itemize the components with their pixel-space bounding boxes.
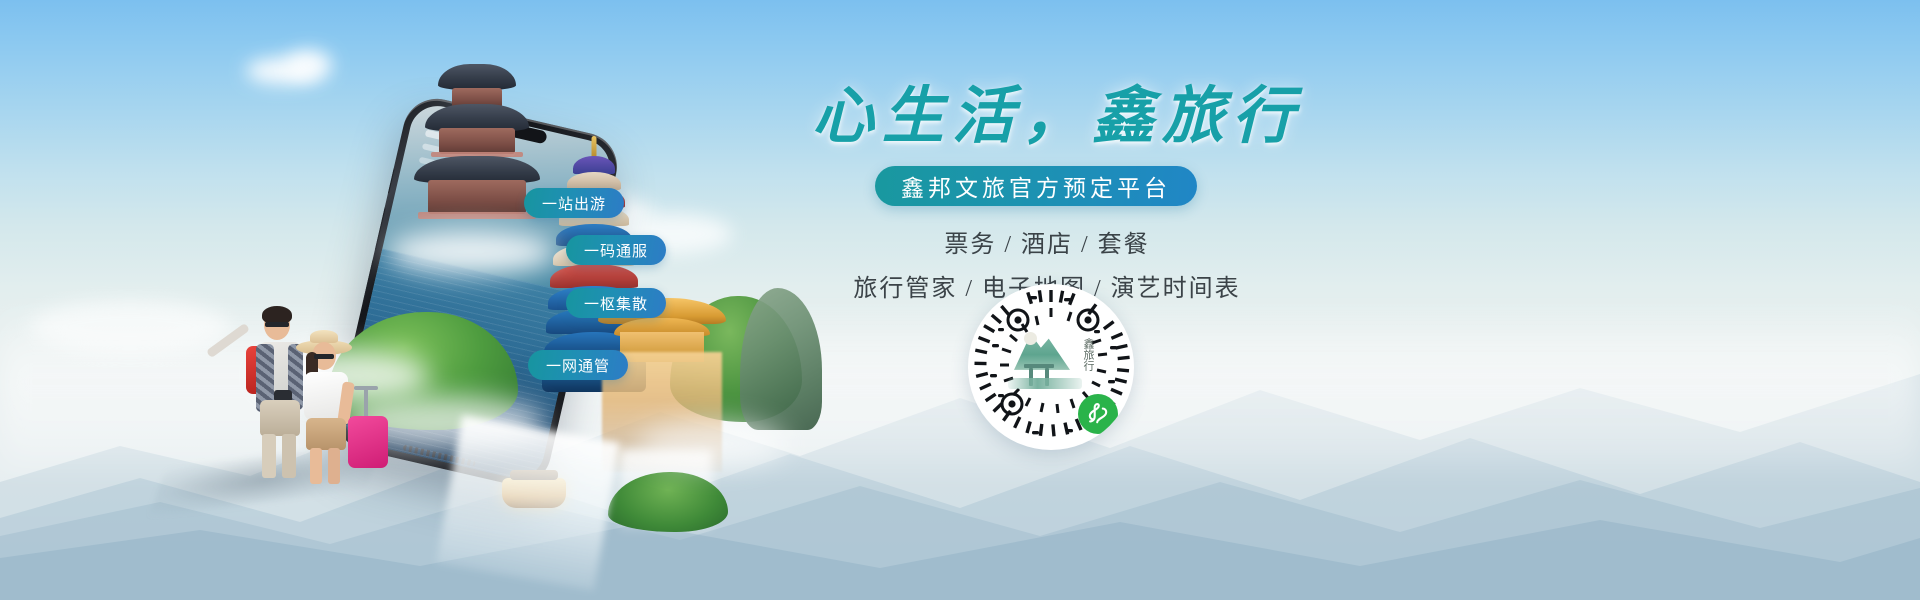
banner-content-panel: 心生活，鑫旅行 鑫邦文旅官方预定平台 票务 / 酒店 / 套餐 旅行管家 / 电…	[800, 54, 1500, 574]
logo-water-shape	[1008, 378, 1082, 389]
service-line-1: 票务 / 酒店 / 套餐	[812, 224, 1282, 259]
official-platform-pill[interactable]: 鑫邦文旅官方预定平台	[875, 166, 1197, 206]
travel-promo-banner: 一站出游 一码通服 一枢集散 一网通管 心生活，鑫旅行 鑫邦文旅官方预定平台 票…	[0, 0, 1920, 600]
qr-brand-logo: 鑫旅行	[1008, 330, 1094, 404]
feature-tag-one-stop-travel[interactable]: 一站出游	[524, 188, 624, 218]
feature-tag-one-network-management[interactable]: 一网通管	[528, 350, 628, 380]
wechat-miniprogram-badge-icon	[1078, 394, 1118, 434]
logo-brand-text: 鑫旅行	[1078, 338, 1094, 371]
banner-headline: 心生活，鑫旅行	[812, 86, 1282, 148]
logo-sun-icon	[1024, 332, 1037, 345]
wechat-miniprogram-qrcode[interactable]: 鑫旅行	[968, 284, 1134, 450]
feature-tag-one-hub-distribution[interactable]: 一枢集散	[566, 288, 666, 318]
feature-tag-one-code-service[interactable]: 一码通服	[566, 235, 666, 265]
